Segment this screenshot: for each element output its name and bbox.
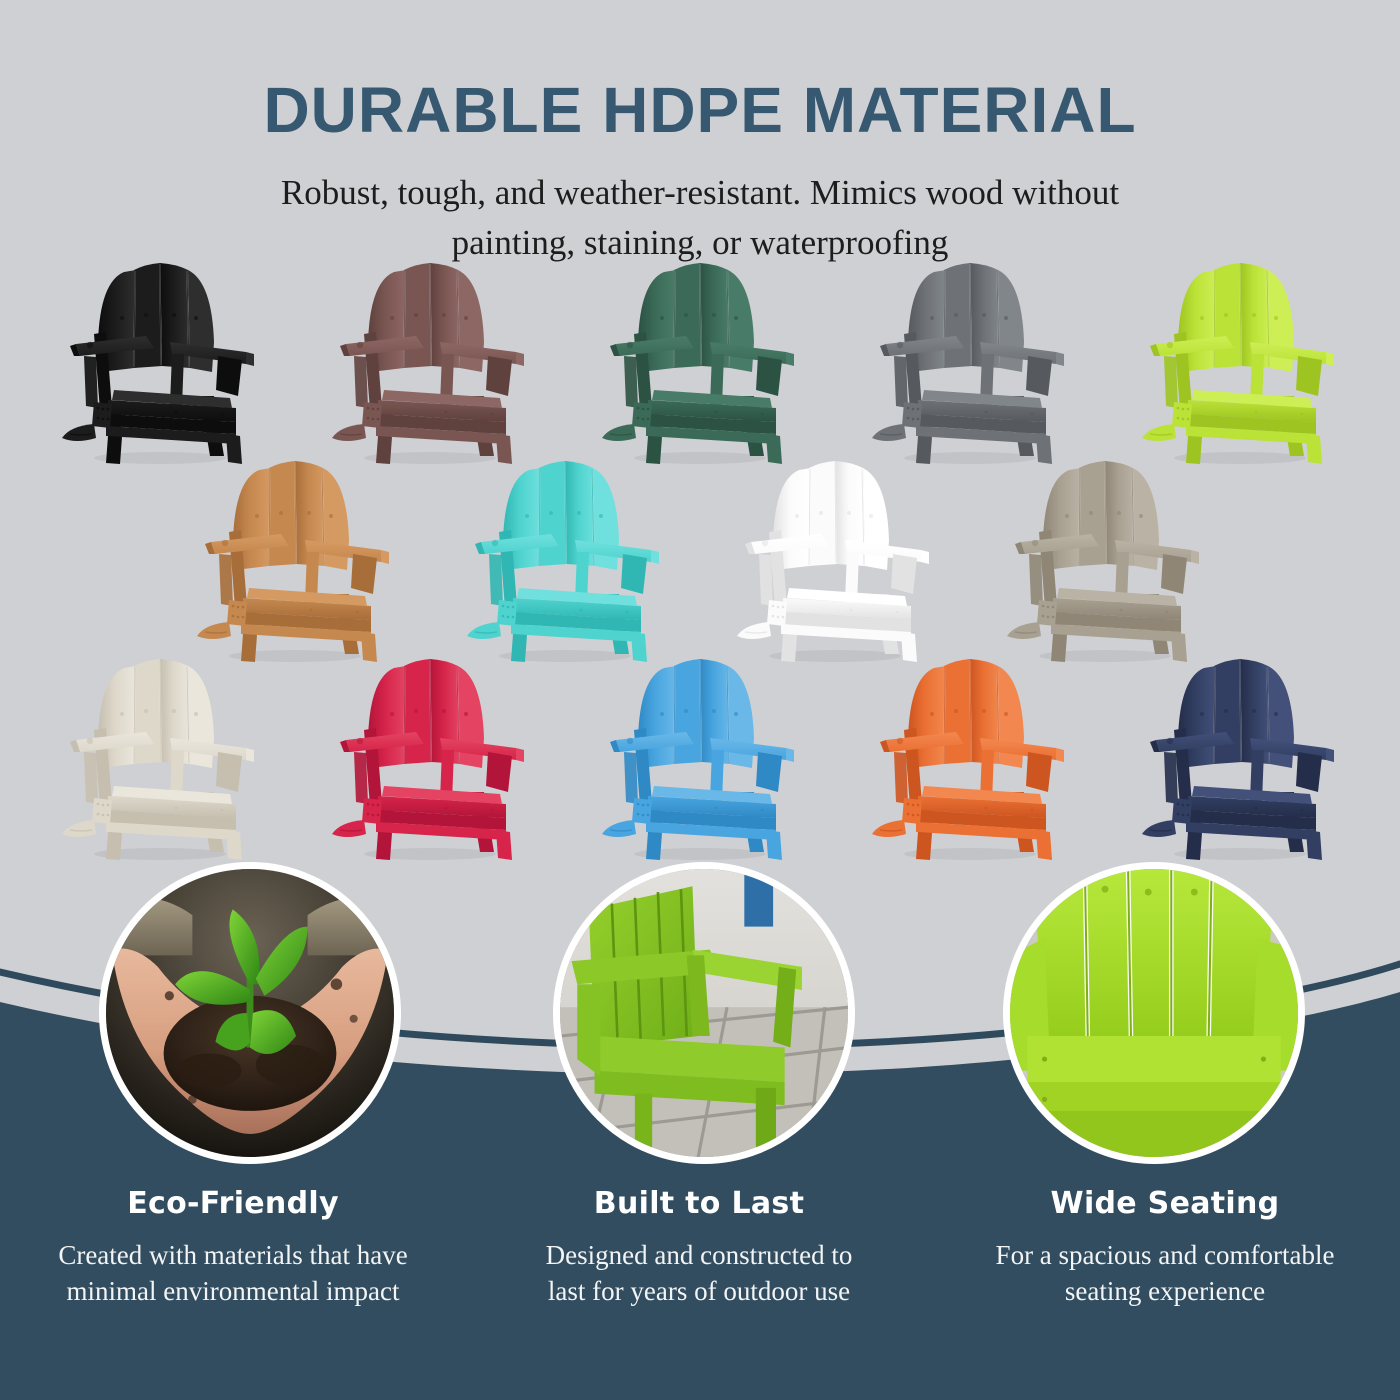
chair-swatch-weathered-wood[interactable] — [995, 456, 1215, 666]
feature-item-2: Wide Seating For a spacious and comforta… — [932, 1186, 1398, 1309]
chair-swatch-ivory[interactable] — [50, 654, 270, 864]
feature-item-0: Eco-Friendly Created with materials that… — [0, 1186, 466, 1309]
feature-desc-line-2: last for years of outdoor use — [484, 1273, 914, 1309]
chair-swatch-black[interactable] — [50, 258, 270, 468]
feature-description: Designed and constructed to last for yea… — [484, 1237, 914, 1309]
feature-title: Built to Last — [484, 1186, 914, 1221]
infographic-page: DURABLE HDPE MATERIAL Robust, tough, and… — [0, 0, 1400, 1400]
page-title: DURABLE HDPE MATERIAL — [0, 78, 1400, 142]
chair-gray — [860, 258, 1080, 468]
chair-dark-brown — [320, 258, 540, 468]
chair-row-3 — [0, 654, 1400, 864]
chair-swatch-orange[interactable] — [860, 654, 1080, 864]
feature-desc-line-1: Created with materials that have — [18, 1237, 448, 1273]
feature-desc-line-2: seating experience — [950, 1273, 1380, 1309]
subtitle-line-1: Robust, tough, and weather-resistant. Mi… — [0, 168, 1400, 218]
chair-lime-green — [1130, 258, 1350, 468]
feature-description: For a spacious and comfortable seating e… — [950, 1237, 1380, 1309]
page-subtitle: Robust, tough, and weather-resistant. Mi… — [0, 168, 1400, 267]
chair-sky-blue — [590, 654, 810, 864]
chair-swatch-gray[interactable] — [860, 258, 1080, 468]
chair-swatch-sky-blue[interactable] — [590, 654, 810, 864]
chair-forest-green — [590, 258, 810, 468]
feature-desc-line-1: For a spacious and comfortable — [950, 1237, 1380, 1273]
chair-turquoise — [455, 456, 675, 666]
wide-seating-photo-circle — [1003, 862, 1305, 1164]
green-chair-wide-seat-closeup-photo — [1010, 869, 1298, 1157]
feature-title: Eco-Friendly — [18, 1186, 448, 1221]
chair-navy-blue — [1130, 654, 1350, 864]
chair-swatch-navy-blue[interactable] — [1130, 654, 1350, 864]
eco-friendly-photo-circle — [99, 862, 401, 1164]
hands-holding-seedling-photo — [106, 869, 394, 1157]
chair-swatch-crimson-red[interactable] — [320, 654, 540, 864]
chair-ivory — [50, 654, 270, 864]
chair-weathered-wood — [995, 456, 1215, 666]
chair-swatch-white[interactable] — [725, 456, 945, 666]
chair-white — [725, 456, 945, 666]
feature-item-1: Built to Last Designed and constructed t… — [466, 1186, 932, 1309]
chair-black — [50, 258, 270, 468]
chair-teak-brown — [185, 456, 405, 666]
feature-list: Eco-Friendly Created with materials that… — [0, 1186, 1400, 1309]
chair-swatch-dark-brown[interactable] — [320, 258, 540, 468]
feature-photos — [0, 862, 1400, 1182]
chair-row-2 — [0, 456, 1400, 666]
feature-description: Created with materials that have minimal… — [18, 1237, 448, 1309]
feature-desc-line-2: minimal environmental impact — [18, 1273, 448, 1309]
chair-swatch-teak-brown[interactable] — [185, 456, 405, 666]
chair-row-1 — [0, 258, 1400, 468]
chair-orange — [860, 654, 1080, 864]
green-adirondack-chair-patio-photo — [560, 869, 848, 1157]
feature-title: Wide Seating — [950, 1186, 1380, 1221]
feature-desc-line-1: Designed and constructed to — [484, 1237, 914, 1273]
chair-swatch-forest-green[interactable] — [590, 258, 810, 468]
chair-color-grid — [0, 258, 1400, 888]
chair-crimson-red — [320, 654, 540, 864]
chair-swatch-turquoise[interactable] — [455, 456, 675, 666]
header: DURABLE HDPE MATERIAL Robust, tough, and… — [0, 0, 1400, 267]
chair-swatch-lime-green[interactable] — [1130, 258, 1350, 468]
built-to-last-photo-circle — [553, 862, 855, 1164]
